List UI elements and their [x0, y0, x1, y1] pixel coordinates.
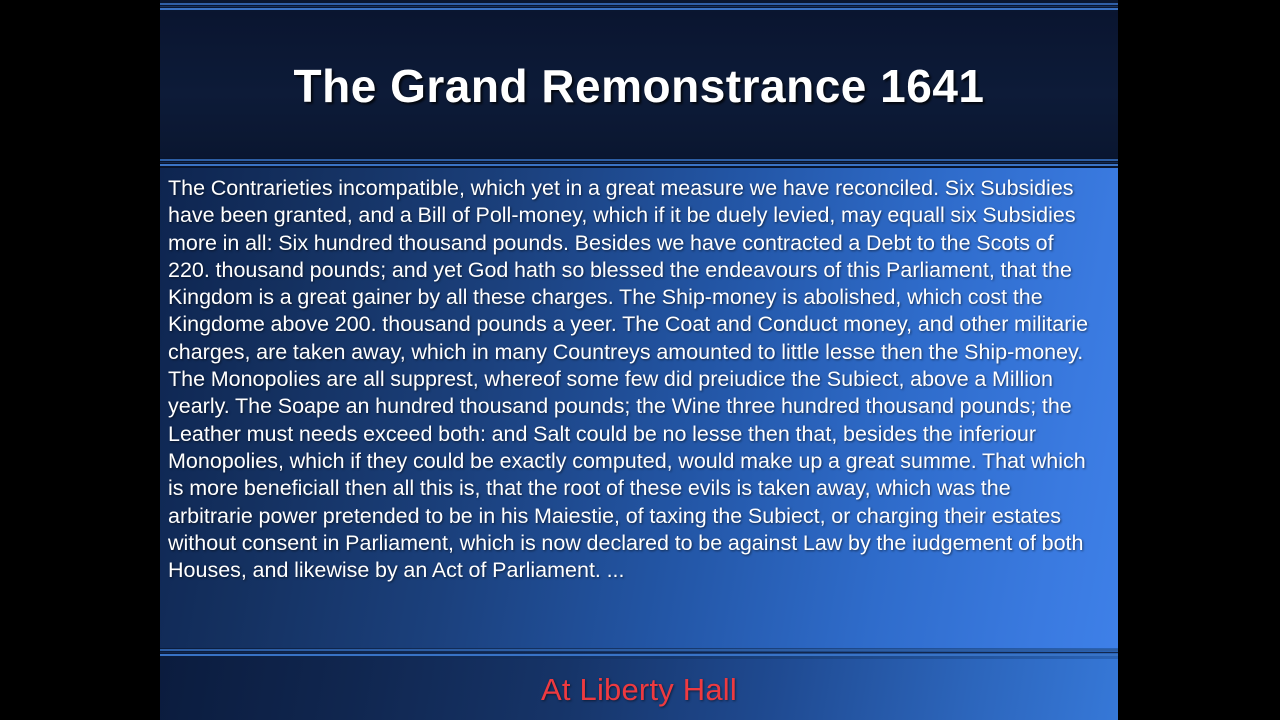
slide-screen: The Grand Remonstrance 1641 The Contrari… — [0, 0, 1280, 720]
letterbox-bar-left — [0, 0, 160, 720]
body-footer-divider — [160, 648, 1118, 659]
slide-footer-band: At Liberty Hall — [160, 659, 1118, 720]
slide-body-text: The Contrarieties incompatible, which ye… — [168, 175, 1100, 584]
divider-line-3 — [160, 164, 1118, 166]
slide-title-band: The Grand Remonstrance 1641 — [160, 12, 1118, 160]
rule-line-2 — [160, 6, 1118, 7]
title-body-divider — [160, 158, 1118, 168]
divider-line-3 — [160, 654, 1118, 656]
slide-footer-text: At Liberty Hall — [541, 672, 737, 708]
letterbox-bar-right — [1118, 0, 1280, 720]
rule-line-1 — [160, 3, 1118, 5]
divider-line-2 — [160, 162, 1118, 163]
divider-line-1 — [160, 159, 1118, 161]
presentation-slide: The Grand Remonstrance 1641 The Contrari… — [160, 0, 1118, 720]
slide-body-panel: The Contrarieties incompatible, which ye… — [160, 168, 1118, 648]
slide-title: The Grand Remonstrance 1641 — [294, 59, 985, 113]
divider-line-2 — [160, 652, 1118, 653]
rule-line-3 — [160, 8, 1118, 10]
divider-line-1 — [160, 649, 1118, 651]
